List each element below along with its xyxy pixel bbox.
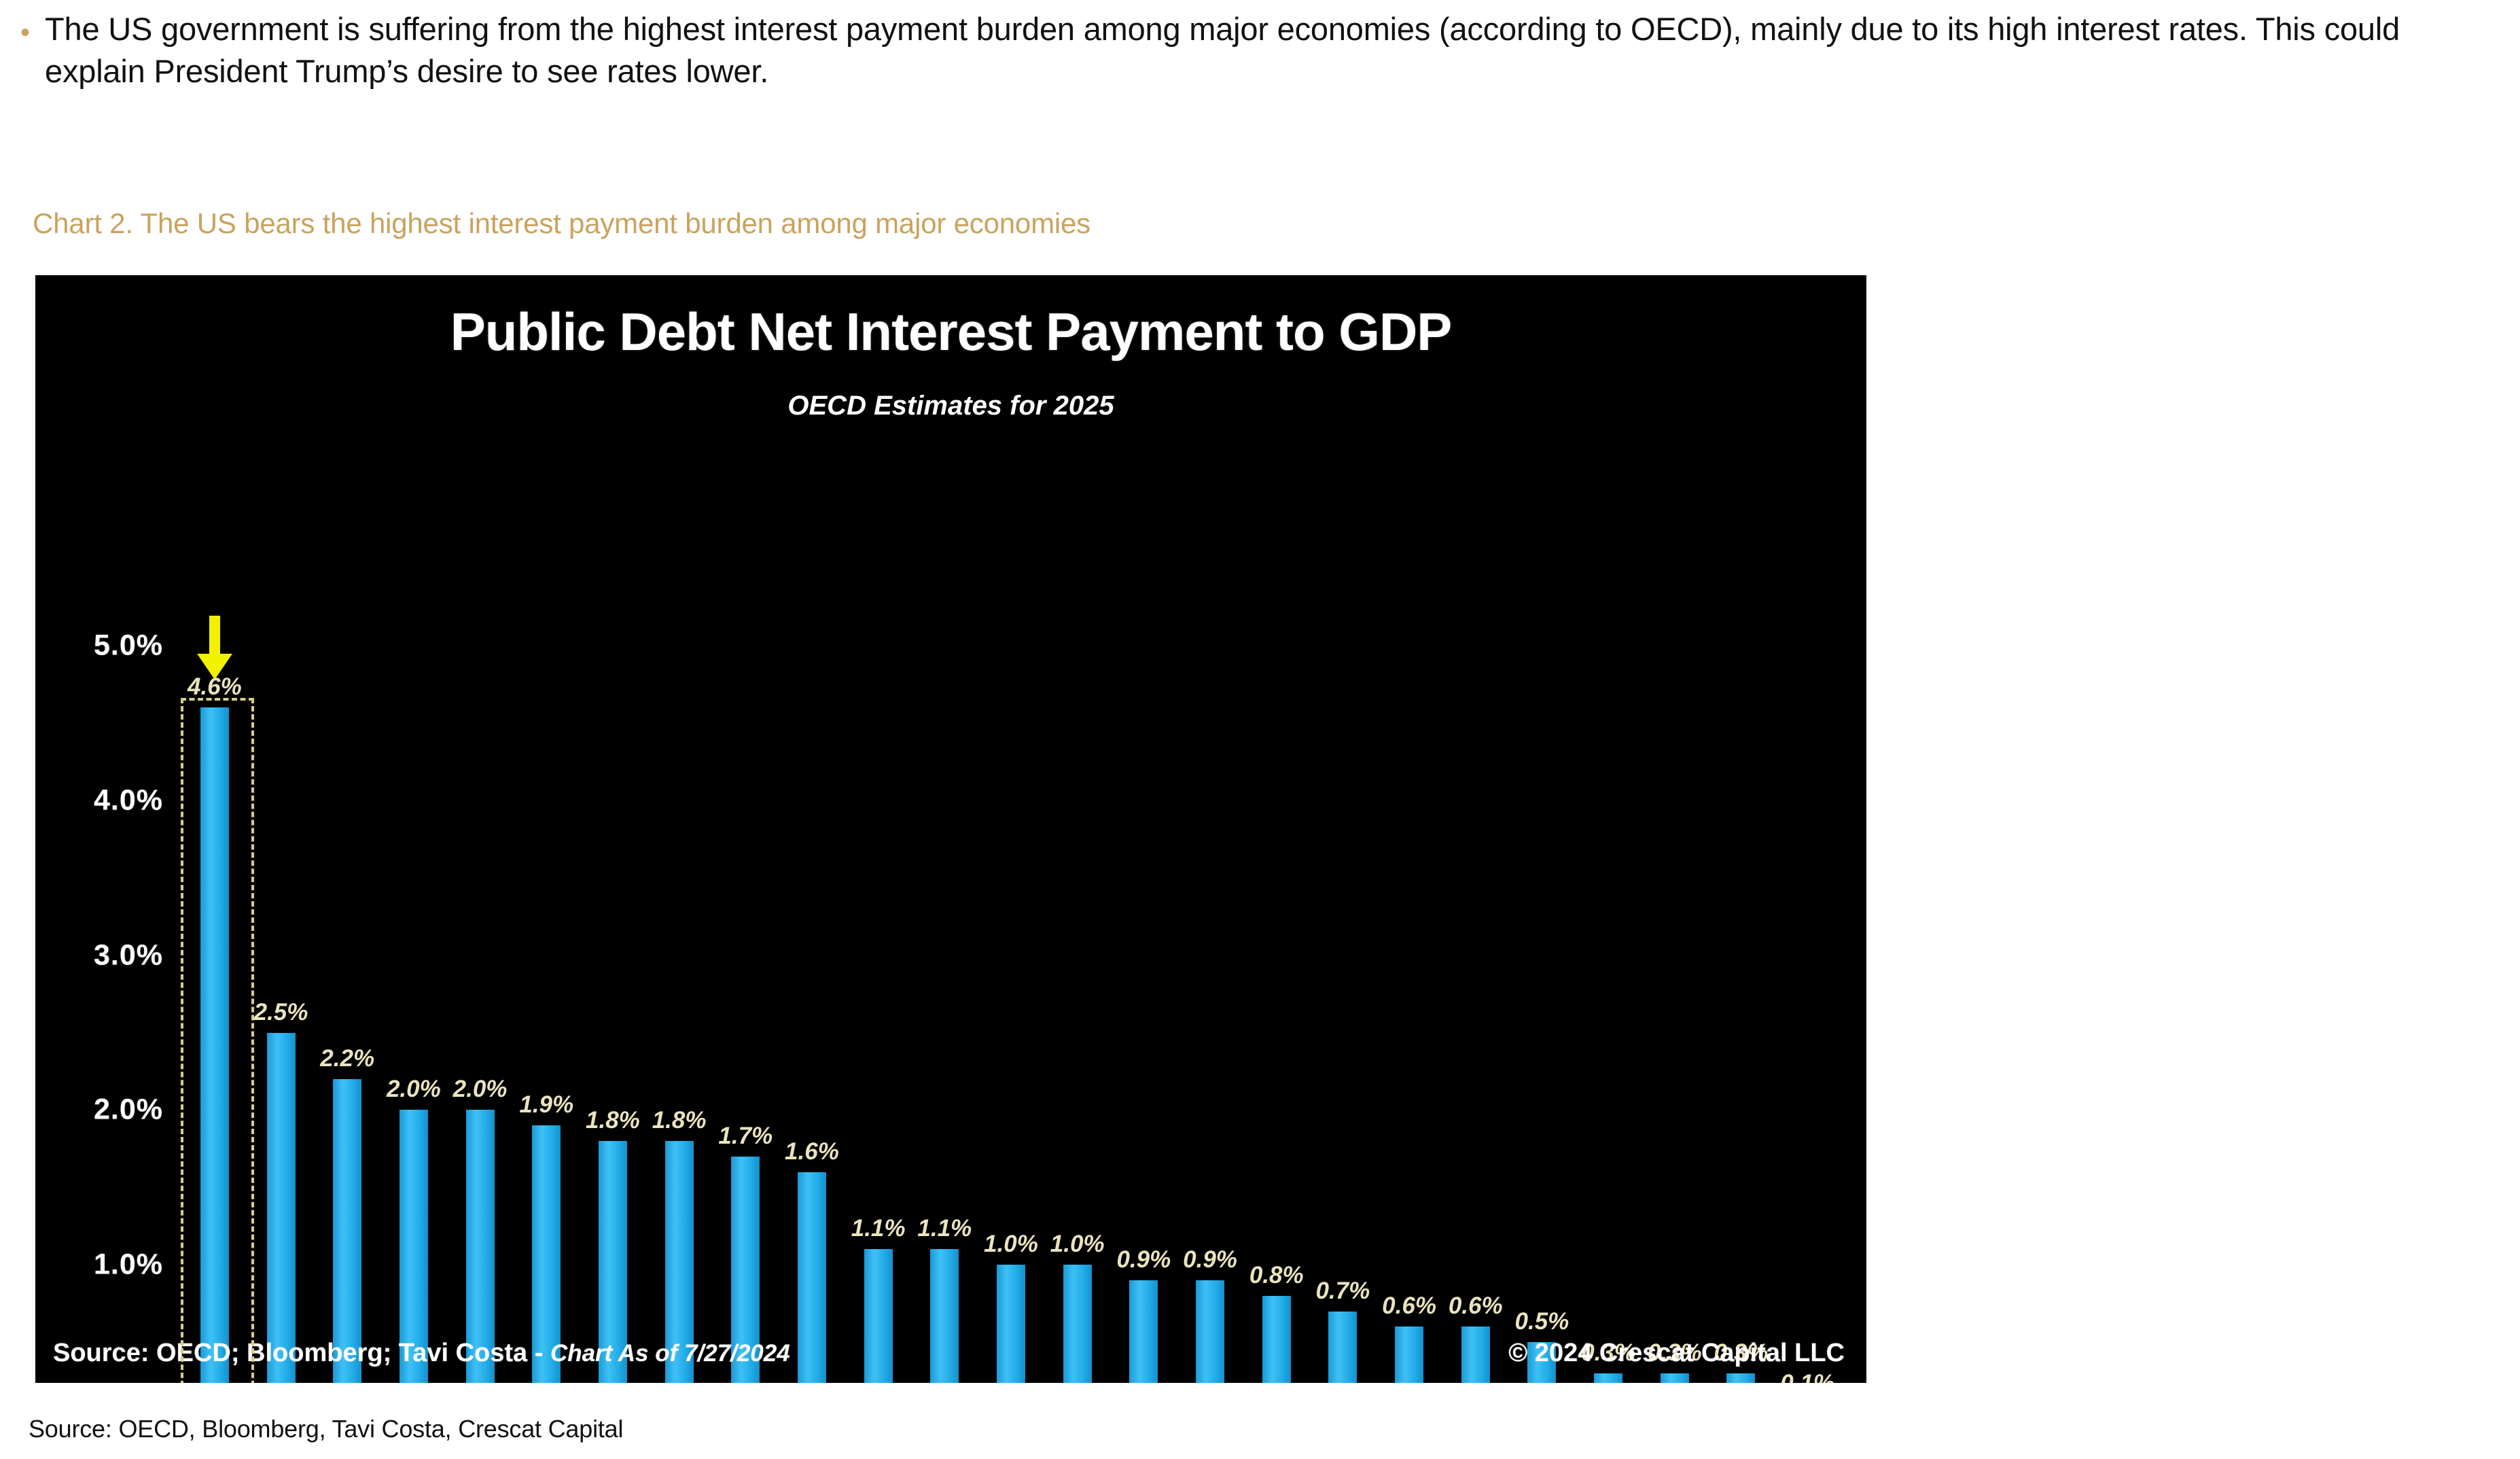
bar-value-label: 0.7%: [1315, 1278, 1370, 1305]
bar-value-label: 1.7%: [718, 1123, 773, 1150]
bar-series: 4.6%2.5%2.2%2.0%2.0%1.9%1.8%1.8%1.7%1.6%…: [181, 646, 1841, 1383]
chart-image-panel: Public Debt Net Interest Payment to GDP …: [35, 275, 1866, 1383]
bar-value-label: 0.9%: [1183, 1246, 1237, 1273]
chart-source-prefix: Source: OECD; Bloomberg; Tavi Costa -: [53, 1339, 543, 1367]
y-axis-tick-label: 2.0%: [94, 1093, 163, 1127]
bar-slot: 1.7%: [712, 646, 779, 1383]
bar: [1395, 1326, 1423, 1383]
bar: [333, 1079, 361, 1383]
y-axis-tick-label: 1.0%: [94, 1248, 163, 1282]
bar-slot: 1.8%: [646, 646, 713, 1383]
bar: [1328, 1312, 1357, 1383]
y-axis-tick-label: 5.0%: [94, 629, 163, 663]
bar-value-label: 1.6%: [785, 1138, 839, 1165]
chart-source-note: Source: OECD; Bloomberg; Tavi Costa - Ch…: [53, 1339, 790, 1368]
bar-value-label: 1.8%: [586, 1107, 640, 1134]
bullet-marker: •: [20, 19, 30, 46]
bar-value-label: 1.0%: [984, 1231, 1038, 1258]
bar: [1726, 1373, 1755, 1383]
bar-slot: 0.3%: [1708, 646, 1775, 1383]
bar: [1196, 1280, 1224, 1383]
bar-value-label: 0.6%: [1449, 1293, 1503, 1320]
down-arrow-icon: [193, 616, 236, 681]
bar: [200, 707, 229, 1383]
chart-title: Public Debt Net Interest Payment to GDP: [35, 301, 1866, 363]
bar-slot: 1.1%: [911, 646, 978, 1383]
chart-caption: Chart 2. The US bears the highest intere…: [33, 207, 1090, 240]
bar: [1262, 1296, 1291, 1383]
bar-slot: 1.0%: [1044, 646, 1111, 1383]
bar-slot: 1.8%: [580, 646, 646, 1383]
chart-copyright: © 2024 Crescat Capital LLC: [1508, 1339, 1845, 1368]
bar: [864, 1249, 893, 1383]
bar: [1594, 1373, 1622, 1383]
bar: [1063, 1265, 1092, 1383]
bar-slot: 0.6%: [1442, 646, 1509, 1383]
bar-value-label: 0.1%: [1780, 1370, 1834, 1383]
bar: [997, 1265, 1025, 1383]
chart-source-date: Chart As of 7/27/2024: [550, 1340, 790, 1367]
bar-value-label: 1.0%: [1050, 1231, 1105, 1258]
bar-slot: 2.5%: [248, 646, 315, 1383]
y-axis-tick-labels: 5.0%4.0%3.0%2.0%1.0%0.0%: [35, 646, 171, 1383]
page-source-note: Source: OECD, Bloomberg, Tavi Costa, Cre…: [29, 1415, 623, 1443]
bar: [798, 1172, 826, 1383]
bar-slot: 1.1%: [845, 646, 912, 1383]
bar-value-label: 2.5%: [254, 999, 308, 1026]
bar: [930, 1249, 959, 1383]
bar: [1461, 1326, 1490, 1383]
bullet-paragraph: • The US government is suffering from th…: [20, 8, 2480, 92]
bar-value-label: 1.9%: [519, 1091, 573, 1119]
bar: [1661, 1373, 1689, 1383]
bar-slot: 0.1%: [1774, 646, 1841, 1383]
bar-slot: 0.9%: [1177, 646, 1243, 1383]
bar-value-label: 2.0%: [387, 1076, 441, 1103]
bar-value-label: 2.2%: [320, 1045, 374, 1072]
bar-slot: 4.6%: [181, 646, 248, 1383]
bar-slot: 0.3%: [1575, 646, 1641, 1383]
bar-slot: 0.8%: [1243, 646, 1310, 1383]
y-axis-tick-label: 4.0%: [94, 784, 163, 817]
bar-slot: 0.9%: [1111, 646, 1177, 1383]
bar-value-label: 2.0%: [453, 1076, 508, 1103]
bar: [1129, 1280, 1158, 1383]
bar-slot: 1.6%: [779, 646, 845, 1383]
bar-value-label: 0.6%: [1382, 1293, 1436, 1320]
bullet-text: The US government is suffering from the …: [45, 8, 2480, 92]
bar: [267, 1033, 296, 1384]
bar-slot: 1.9%: [513, 646, 580, 1383]
chart-subtitle: OECD Estimates for 2025: [35, 391, 1866, 421]
bar-slot: 0.7%: [1310, 646, 1377, 1383]
bar-slot: 2.0%: [447, 646, 514, 1383]
bar-slot: 2.0%: [380, 646, 447, 1383]
bar-value-label: 0.9%: [1116, 1246, 1171, 1273]
bar-value-label: 1.8%: [652, 1107, 707, 1134]
bar-slot: 2.2%: [314, 646, 380, 1383]
bar-slot: 1.0%: [978, 646, 1044, 1383]
bar-value-label: 1.1%: [917, 1215, 972, 1242]
bar-slot: 0.5%: [1509, 646, 1576, 1383]
bar-value-label: 0.5%: [1515, 1308, 1569, 1335]
bar-value-label: 0.8%: [1249, 1262, 1304, 1289]
bar-slot: 0.3%: [1641, 646, 1708, 1383]
y-axis-tick-label: 3.0%: [94, 938, 163, 972]
bar-slot: 0.6%: [1376, 646, 1442, 1383]
bar-value-label: 1.1%: [851, 1215, 906, 1242]
